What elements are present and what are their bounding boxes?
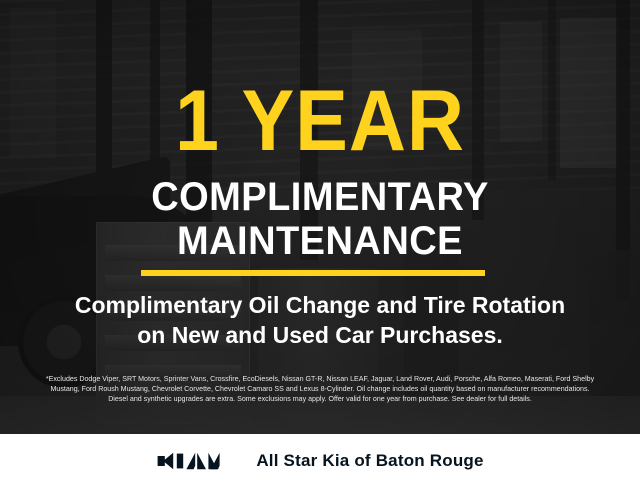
disclaimer-text: *Excludes Dodge Viper, SRT Motors, Sprin… [14, 374, 626, 405]
disclaimer-line-2: Mustang, Ford Roush Mustang, Chevrolet C… [14, 384, 626, 394]
tagline-line-1: Complimentary Oil Change and Tire Rotati… [0, 290, 640, 320]
promotional-banner: 1 YEAR COMPLIMENTARY MAINTENANCE Complim… [0, 0, 640, 488]
yellow-divider-bar [141, 270, 485, 276]
dealer-name: All Star Kia of Baton Rouge [256, 451, 483, 471]
tagline-line-2: on New and Used Car Purchases. [0, 320, 640, 350]
headline-1-year: 1 YEAR [26, 78, 615, 164]
banner-content: 1 YEAR COMPLIMENTARY MAINTENANCE Complim… [0, 0, 640, 434]
disclaimer-line-1: *Excludes Dodge Viper, SRT Motors, Sprin… [14, 374, 626, 384]
subhead-maintenance: MAINTENANCE [16, 220, 624, 262]
kia-logo [156, 450, 234, 472]
subhead-complimentary: COMPLIMENTARY [16, 176, 624, 218]
tagline: Complimentary Oil Change and Tire Rotati… [0, 290, 640, 350]
footer-bar: All Star Kia of Baton Rouge [0, 434, 640, 488]
disclaimer-line-3: Diesel and synthetic upgrades are extra.… [14, 394, 626, 404]
